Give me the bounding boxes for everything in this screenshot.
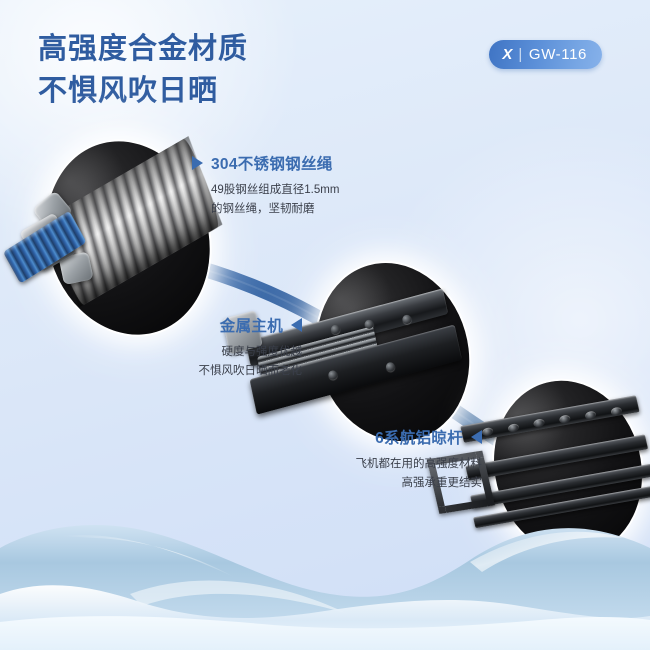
triangle-left-icon (291, 318, 302, 332)
callout-description: 49股钢丝组成直径1.5mm 的钢丝绳，坚韧耐磨 (192, 181, 339, 219)
callout-title-row: 304不锈钢钢丝绳 (192, 152, 339, 174)
page-title-line-1: 高强度合金材质 (38, 28, 248, 70)
callout-description: 硬度与强度优越 不惧风吹日晒而老化 (0, 343, 320, 381)
callout-metal-main-unit: 金属主机 硬度与强度优越 不惧风吹日晒而老化 (0, 314, 320, 381)
model-number: GW-116 (529, 46, 587, 63)
callout-title-row: 6系航铝晾杆 (170, 426, 500, 448)
callout-description-line-1: 49股钢丝组成直径1.5mm (211, 181, 339, 200)
model-badge: X | GW-116 (489, 40, 602, 69)
triangle-left-icon (471, 430, 482, 444)
page-title-line-2: 不惧风吹日晒 (38, 70, 248, 112)
callout-aluminum-drying-rod: 6系航铝晾杆 飞机都在用的高强度材料 高强承重更结实 (170, 426, 500, 493)
callout-steel-wire-rope: 304不锈钢钢丝绳 49股钢丝组成直径1.5mm 的钢丝绳，坚韧耐磨 (192, 152, 339, 219)
callout-title: 6系航铝晾杆 (375, 426, 463, 448)
badge-separator: | (518, 46, 523, 63)
callout-description-line-1: 硬度与强度优越 (0, 343, 302, 362)
brand-mark: X (502, 46, 512, 63)
bottom-wave-decoration (0, 490, 650, 650)
triangle-right-icon (192, 156, 203, 170)
product-feature-poster: 高强度合金材质 不惧风吹日晒 X | GW-116 (0, 0, 650, 650)
callout-description-line-2: 不惧风吹日晒而老化 (0, 362, 302, 381)
callout-title: 金属主机 (220, 314, 283, 336)
callout-description-line-2: 的钢丝绳，坚韧耐磨 (211, 200, 339, 219)
callout-title-row: 金属主机 (0, 314, 320, 336)
page-title: 高强度合金材质 不惧风吹日晒 (38, 28, 248, 112)
callout-description-line-1: 飞机都在用的高强度材料 (170, 455, 482, 474)
callout-title: 304不锈钢钢丝绳 (211, 152, 333, 174)
feature-image-steel-wire-rope (48, 140, 208, 336)
callout-description: 飞机都在用的高强度材料 高强承重更结实 (170, 455, 500, 493)
